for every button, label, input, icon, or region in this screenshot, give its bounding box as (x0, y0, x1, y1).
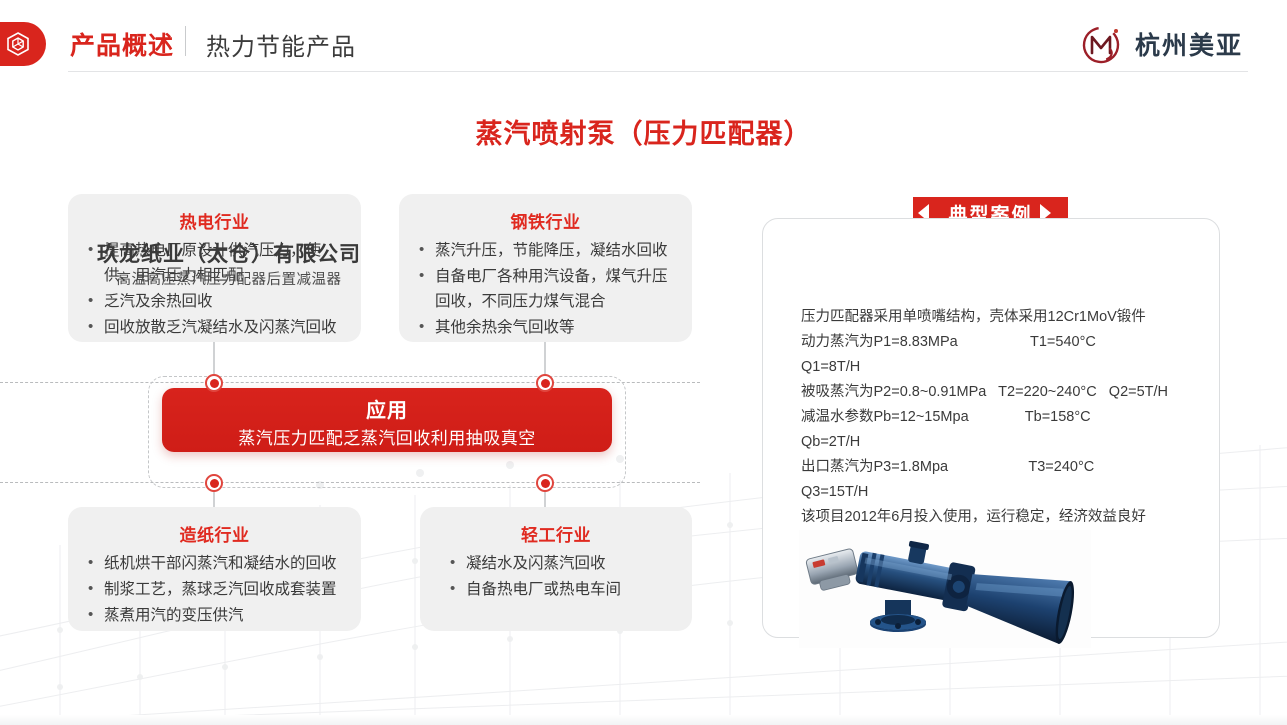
list-item: 其他余热余气回收等 (417, 315, 678, 340)
application-subtitle: 蒸汽压力匹配乏蒸汽回收利用抽吸真空 (162, 424, 612, 449)
list-item: 凝结水及闪蒸汽回收 (448, 551, 678, 576)
steam-ejector-pump-illustration (799, 530, 1091, 648)
industry-card-title: 热电行业 (68, 194, 361, 238)
header-divider (185, 26, 186, 56)
list-item: 蒸煮用汽的变压供汽 (86, 603, 347, 628)
case-study-panel: 压力匹配器采用单喷嘴结构，壳体采用12Cr1MoV锻件 动力蒸汽为P1=8.83… (762, 218, 1220, 638)
spec-line: 动力蒸汽为P1=8.83MPa T1=540°C (801, 330, 1211, 355)
page-subtitle: 热力节能产品 (206, 27, 356, 62)
industry-card-title: 钢铁行业 (399, 194, 692, 238)
spec-line: 出口蒸汽为P3=1.8Mpa T3=240°C (801, 455, 1211, 480)
list-item: 乏汽及余热回收 (86, 289, 347, 314)
bottom-strip (0, 715, 1287, 725)
brand-logo: 杭州美亚 (1079, 21, 1243, 67)
page-title: 产品概述 (70, 26, 174, 62)
spec-line: Q3=15T/H (801, 480, 1211, 505)
industry-card-title: 造纸行业 (68, 507, 361, 551)
spec-line: 减温水参数Pb=12~15Mpa Tb=158°C (801, 405, 1211, 430)
industry-card-list: 纸机烘干部闪蒸汽和凝结水的回收 制浆工艺，蒸球乏汽回收成套装置 蒸煮用汽的变压供… (68, 551, 361, 628)
case-product-photo (799, 530, 1091, 648)
list-item: 纸机烘干部闪蒸汽和凝结水的回收 (86, 551, 347, 576)
node-bottom-right (536, 474, 554, 492)
industry-card-list: 凝结水及闪蒸汽回收 自备热电厂或热电车间 (420, 551, 692, 602)
case-subtitle: 高温高压蒸汽压力配器后置减温器 (0, 268, 458, 289)
spec-line: 该项目2012年6月投入使用，运行稳定，经济效益良好 (801, 505, 1211, 530)
node-top-right (536, 374, 554, 392)
node-bottom-left (205, 474, 223, 492)
spec-line: 被吸蒸汽为P2=0.8~0.91MPa T2=220~240°C Q2=5T/H (801, 380, 1211, 405)
case-company-name: 玖龙纸业（太仓）有限公司 (0, 238, 458, 268)
header-underline (68, 71, 1248, 72)
list-item: 回收放散乏汽凝结水及闪蒸汽回收 (86, 315, 347, 340)
page-header: 产品概述 热力节能产品 杭州美亚 (0, 0, 1287, 80)
meiya-m-logo-icon (1079, 21, 1125, 67)
application-title: 应用 (162, 394, 612, 423)
header-badge (0, 22, 46, 66)
slide-heading: 蒸汽喷射泵（压力匹配器） (0, 112, 1287, 151)
spec-line: Q1=8T/H (801, 355, 1211, 380)
industry-card-title: 轻工行业 (420, 507, 692, 551)
cube-hexagon-icon (5, 31, 31, 57)
spec-line: Qb=2T/H (801, 430, 1211, 455)
industry-card-paper[interactable]: 造纸行业 纸机烘干部闪蒸汽和凝结水的回收 制浆工艺，蒸球乏汽回收成套装置 蒸煮用… (68, 507, 361, 631)
list-item: 自备热电厂或热电车间 (448, 577, 678, 602)
industry-card-light-industry[interactable]: 轻工行业 凝结水及闪蒸汽回收 自备热电厂或热电车间 (420, 507, 692, 631)
node-top-left (205, 374, 223, 392)
case-spec-list: 压力匹配器采用单喷嘴结构，壳体采用12Cr1MoV锻件 动力蒸汽为P1=8.83… (801, 305, 1211, 530)
list-item: 制浆工艺，蒸球乏汽回收成套装置 (86, 577, 347, 602)
application-center-box[interactable]: 应用 蒸汽压力匹配乏蒸汽回收利用抽吸真空 (162, 388, 612, 452)
spec-line: 压力匹配器采用单喷嘴结构，壳体采用12Cr1MoV锻件 (801, 305, 1211, 330)
slide-canvas: 产品概述 热力节能产品 杭州美亚 蒸汽喷射泵（压力匹配器） 应用 蒸汽压力匹配乏… (0, 0, 1287, 725)
brand-name: 杭州美亚 (1135, 26, 1243, 62)
